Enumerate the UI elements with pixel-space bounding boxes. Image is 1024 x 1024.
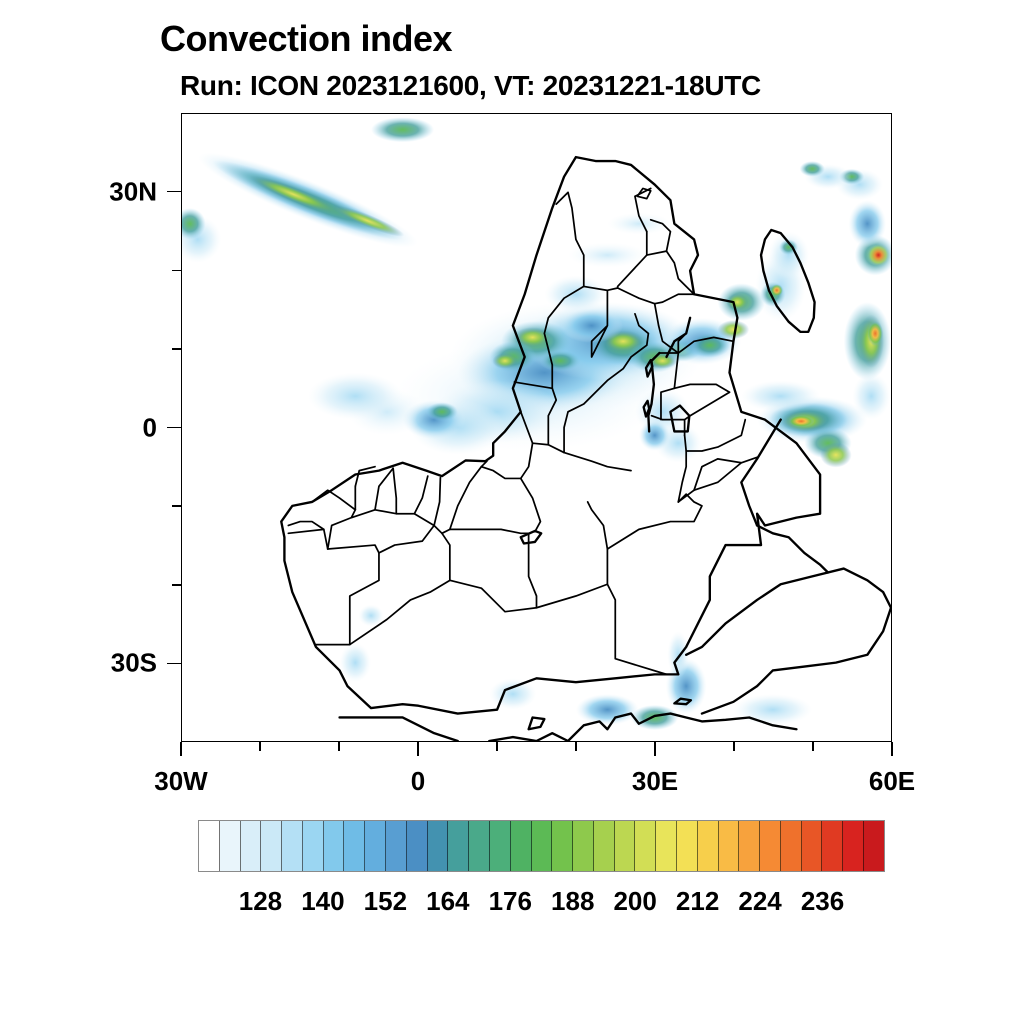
y-tick-6 [167, 663, 181, 665]
colorbar-segment-4 [282, 821, 303, 871]
colorbar-segment-29 [802, 821, 823, 871]
colorbar-tick-128: 128 [239, 886, 282, 917]
colorbar-segment-19 [594, 821, 615, 871]
map-plot-area [181, 113, 892, 742]
colorbar-segment-12 [448, 821, 469, 871]
colorbar-segment-32 [864, 821, 884, 871]
page-title: Convection index [160, 18, 452, 60]
weather-map-figure: Convection index Run: ICON 2023121600, V… [0, 0, 1024, 1024]
convection-field [182, 117, 891, 730]
y-tick-0 [167, 191, 181, 193]
colorbar-tick-224: 224 [738, 886, 781, 917]
colorbar-segment-11 [428, 821, 449, 871]
colorbar-segment-5 [303, 821, 324, 871]
colorbar-tick-200: 200 [613, 886, 656, 917]
colorbar-segment-15 [511, 821, 532, 871]
x-tick-4 [496, 742, 498, 751]
x-tick-9 [891, 742, 893, 756]
colorbar-segment-18 [573, 821, 594, 871]
colorbar-segment-24 [698, 821, 719, 871]
y-tick-4 [172, 505, 181, 507]
y-axis-label-30S: 30S [0, 648, 157, 679]
colorbar-tick-188: 188 [551, 886, 594, 917]
colorbar-segment-23 [677, 821, 698, 871]
colorbar[interactable] [198, 820, 885, 872]
colorbar-segment-10 [407, 821, 428, 871]
colorbar-tick-140: 140 [301, 886, 344, 917]
y-axis-label-30N: 30N [0, 176, 157, 207]
x-tick-0 [180, 742, 182, 756]
x-tick-2 [338, 742, 340, 751]
y-tick-5 [172, 584, 181, 586]
x-axis-label-30W: 30W [154, 766, 207, 797]
colorbar-tick-176: 176 [489, 886, 532, 917]
x-tick-5 [575, 742, 577, 751]
colorbar-segment-22 [656, 821, 677, 871]
y-tick-3 [167, 427, 181, 429]
colorbar-segment-13 [469, 821, 490, 871]
y-tick-2 [172, 348, 181, 350]
run-valid-time-subtitle: Run: ICON 2023121600, VT: 20231221-18UTC [180, 70, 761, 102]
colorbar-segment-16 [532, 821, 553, 871]
colorbar-segment-8 [365, 821, 386, 871]
colorbar-tick-164: 164 [426, 886, 469, 917]
colorbar-segment-30 [822, 821, 843, 871]
colorbar-segment-17 [552, 821, 573, 871]
colorbar-tick-236: 236 [801, 886, 844, 917]
colorbar-tick-152: 152 [364, 886, 407, 917]
colorbar-segment-27 [760, 821, 781, 871]
colorbar-segment-9 [386, 821, 407, 871]
colorbar-segment-14 [490, 821, 511, 871]
x-tick-6 [654, 742, 656, 756]
colorbar-segment-21 [635, 821, 656, 871]
colorbar-segment-28 [781, 821, 802, 871]
colorbar-segment-20 [615, 821, 636, 871]
colorbar-segment-0 [199, 821, 220, 871]
y-axis-label-0: 0 [0, 412, 157, 443]
colorbar-segment-2 [241, 821, 262, 871]
colorbar-segment-7 [344, 821, 365, 871]
x-tick-3 [417, 742, 419, 756]
colorbar-segment-25 [719, 821, 740, 871]
colorbar-segment-31 [843, 821, 864, 871]
colorbar-segment-26 [739, 821, 760, 871]
colorbar-tick-212: 212 [676, 886, 719, 917]
map-canvas [182, 114, 891, 741]
x-tick-7 [733, 742, 735, 751]
y-tick-1 [172, 270, 181, 272]
colorbar-segment-3 [261, 821, 282, 871]
x-tick-8 [812, 742, 814, 751]
x-axis-label-60E: 60E [869, 766, 915, 797]
x-tick-1 [259, 742, 261, 751]
colorbar-segment-6 [324, 821, 345, 871]
x-axis-label-0: 0 [411, 766, 425, 797]
x-axis-label-30E: 30E [632, 766, 678, 797]
colorbar-segment-1 [220, 821, 241, 871]
